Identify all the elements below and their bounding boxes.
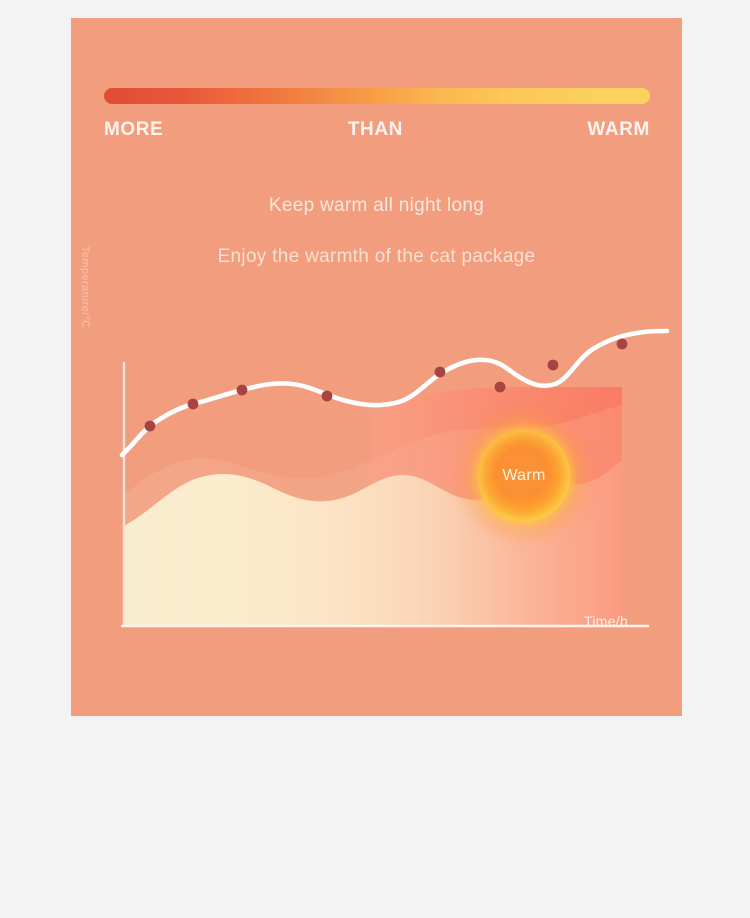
- tagline-secondary: Enjoy the warmth of the cat package: [71, 244, 682, 270]
- heat-bar-label-row: MORE THAN WARM: [104, 117, 650, 143]
- poster-panel: MORE THAN WARM Keep warm all night long …: [71, 18, 682, 716]
- chart-x-axis-label: Time/h: [584, 613, 628, 629]
- tagline-block: Keep warm all night long Enjoy the warmt…: [71, 193, 682, 270]
- warm-sun-badge: Warm: [478, 430, 570, 522]
- heat-gradient-bar: [104, 88, 650, 104]
- chart-data-point: [435, 367, 446, 378]
- chart-data-point: [322, 391, 333, 402]
- heat-gradient-fill: [104, 88, 650, 104]
- chart-y-axis-label: Temperature/℃: [79, 246, 92, 366]
- chart-data-point: [548, 360, 559, 371]
- heat-label-warm: WARM: [587, 117, 650, 143]
- chart-data-point: [188, 399, 199, 410]
- chart-data-point: [237, 385, 248, 396]
- chart-data-point: [145, 421, 156, 432]
- heat-label-more: MORE: [104, 117, 163, 143]
- tagline-primary: Keep warm all night long: [71, 193, 682, 219]
- chart-data-point: [617, 339, 628, 350]
- sun-badge-label: Warm: [478, 430, 570, 522]
- heat-label-than: THAN: [348, 117, 403, 143]
- chart-data-point: [495, 382, 506, 393]
